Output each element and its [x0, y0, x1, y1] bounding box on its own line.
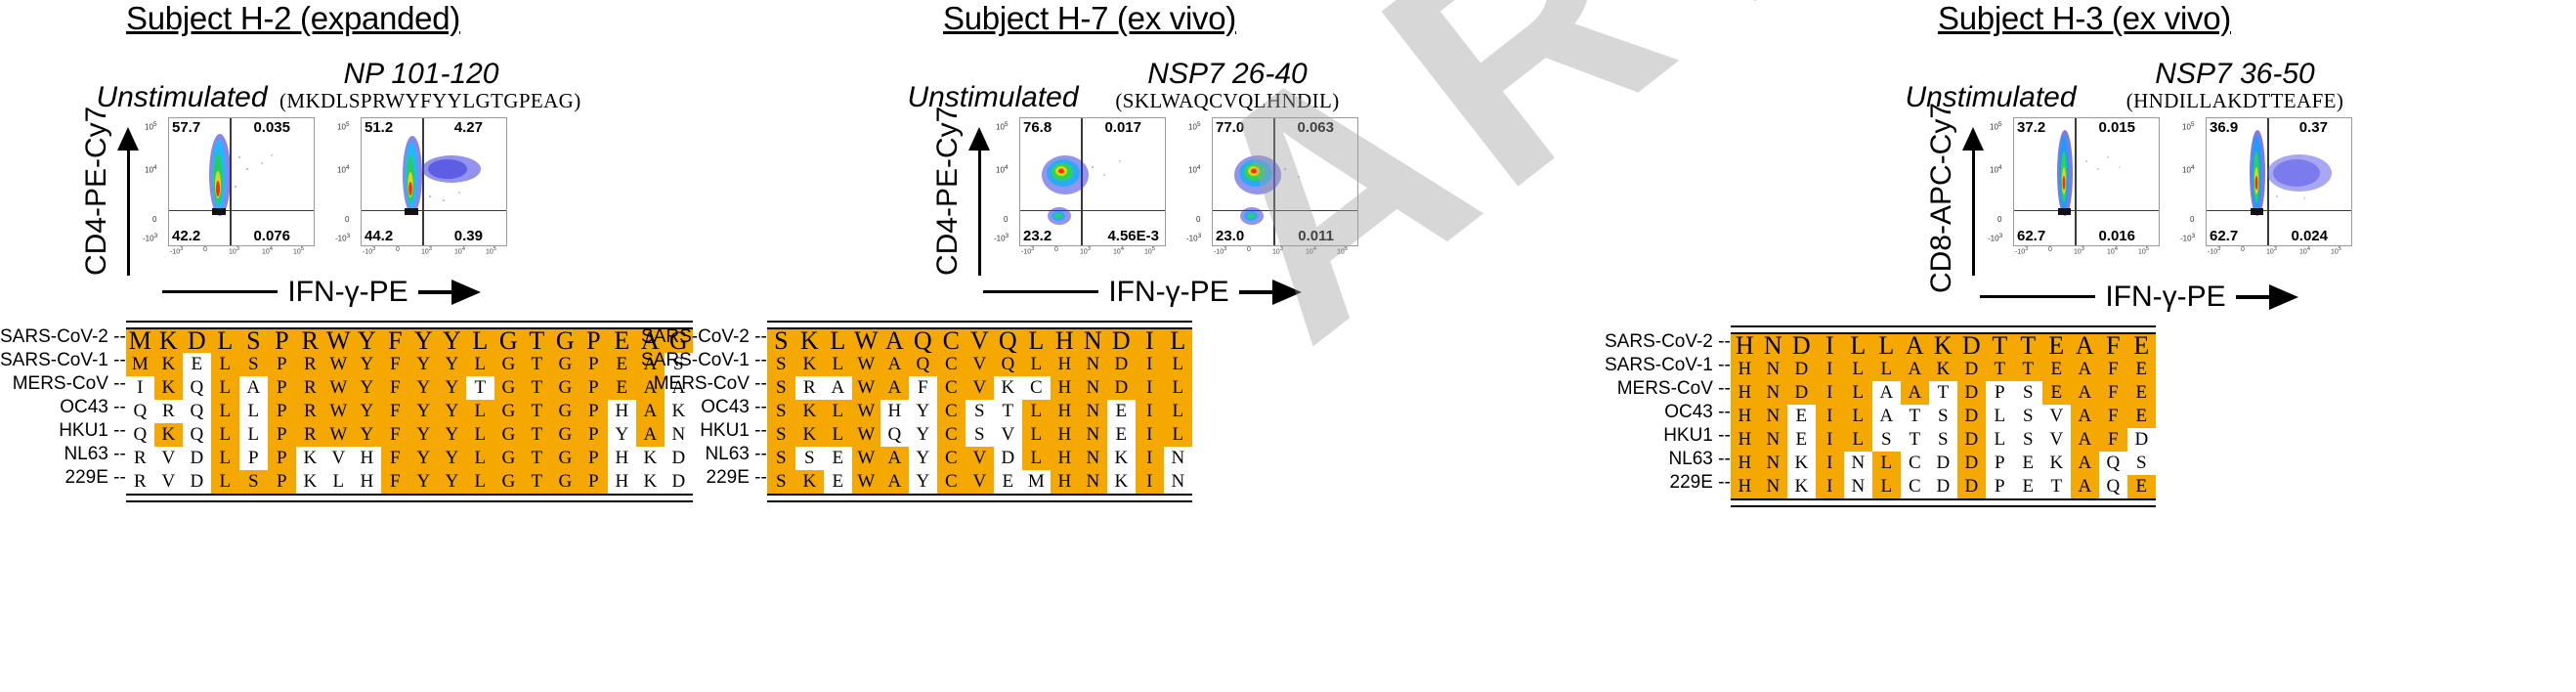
- residue-cell: L: [1164, 376, 1192, 400]
- residue-cell: S: [767, 400, 795, 423]
- strain-label: SARS-CoV-2 --: [1605, 330, 1731, 354]
- residue-cell: D: [1929, 475, 1957, 498]
- residue-cell: V: [966, 447, 994, 470]
- residue-cell: D: [183, 329, 211, 353]
- residue-cell: S: [239, 329, 268, 353]
- residue-cell: V: [966, 376, 994, 400]
- alignment-row: HNKINLCDDPETAQE: [1731, 475, 2156, 498]
- residue-cell: G: [551, 423, 580, 447]
- residue-cell: S: [2014, 428, 2042, 452]
- residue-cell: A: [2071, 475, 2099, 498]
- residue-cell: D: [1107, 329, 1136, 353]
- residue-cell: N: [1079, 423, 1107, 447]
- residue-cell: L: [824, 400, 852, 423]
- y-tick-marks: 105 104 0 -103: [335, 117, 361, 244]
- residue-cell: T: [523, 400, 551, 423]
- residue-cell: L: [1844, 334, 1872, 358]
- residue-cell: F: [909, 376, 937, 400]
- residue-cell: N: [1844, 452, 1872, 475]
- residue-cell: T: [1986, 334, 2014, 358]
- residue-cell: F: [2099, 334, 2127, 358]
- residue-cell: I: [1816, 475, 1844, 498]
- residue-cell: L: [466, 400, 494, 423]
- residue-cell: Y: [438, 447, 466, 470]
- residue-cell: N: [1164, 470, 1192, 494]
- residue-cell: R: [296, 423, 324, 447]
- x-tick-marks: -103 0 103 104 105: [361, 246, 505, 262]
- residue-cell: Y: [438, 423, 466, 447]
- residue-cell: E: [2127, 381, 2156, 405]
- residue-cell: V: [966, 353, 994, 376]
- residue-cell: T: [523, 329, 551, 353]
- residue-cell: A: [1872, 381, 1901, 405]
- residue-cell: P: [1986, 452, 2014, 475]
- residue-cell: W: [852, 353, 880, 376]
- residue-cell: R: [296, 353, 324, 376]
- residue-cell: L: [211, 423, 239, 447]
- quadrant-value-ll: 62.7: [2210, 228, 2238, 244]
- residue-cell: D: [1957, 405, 1986, 428]
- residue-cell: S: [767, 376, 795, 400]
- residue-cell: E: [2042, 358, 2071, 381]
- condition-name: Unstimulated: [84, 82, 279, 113]
- residue-cell: E: [2127, 358, 2156, 381]
- x-axis-arrow-icon: [418, 280, 481, 305]
- quadrant-value-lr: 0.011: [1298, 228, 1334, 244]
- strain-label: OC43 --: [1605, 401, 1731, 424]
- residue-cell: K: [795, 400, 824, 423]
- residue-cell: Q: [909, 329, 937, 353]
- residue-cell: K: [795, 470, 824, 494]
- residue-cell: E: [2127, 405, 2156, 428]
- residue-cell: G: [551, 329, 580, 353]
- condition-header-peptide: NP 101-120 (MKDLSPRWYFYYLGTGPEAG): [279, 59, 563, 113]
- residue-cell: D: [1787, 334, 1816, 358]
- flow-plot-unstimulated[interactable]: 105 104 0 -103: [143, 117, 314, 262]
- residue-cell: L: [1022, 447, 1051, 470]
- y-tick-marks: 105 104 0 -103: [1186, 117, 1212, 244]
- residue-cell: E: [824, 470, 852, 494]
- residue-cell: Y: [409, 353, 438, 376]
- flow-cytometry-block: CD4-PE-Cy7 105 104 0 -103: [635, 117, 1544, 274]
- residue-cell: W: [852, 400, 880, 423]
- y-tick-marks: 105 104 0 -103: [2180, 117, 2206, 244]
- flow-plot-peptide[interactable]: 105 104 0 -103: [335, 117, 506, 262]
- alignment-row-labels: SARS-CoV-2 -- SARS-CoV-1 -- MERS-CoV -- …: [0, 321, 126, 490]
- strain-label: NL63 --: [0, 443, 126, 466]
- residue-cell: N: [1759, 358, 1787, 381]
- residue-cell: K: [154, 329, 183, 353]
- residue-cell: V: [2042, 405, 2071, 428]
- residue-cell: W: [324, 423, 353, 447]
- alignment-grid: HNDILLAKDTTEAFEHNDILLAKDTTEAFEHNDILAATDP…: [1731, 325, 2156, 507]
- residue-cell: W: [852, 423, 880, 447]
- residue-cell: P: [1986, 381, 2014, 405]
- residue-cell: S: [1872, 428, 1901, 452]
- y-axis-arrow-icon: [1960, 127, 1986, 274]
- figure-root: Subject H-2 (expanded) Unstimulated NP 1…: [0, 0, 2576, 692]
- residue-cell: Q: [880, 423, 909, 447]
- residue-cell: H: [1731, 381, 1759, 405]
- alignment-row: SKLWAQCVQLHNDIL: [767, 353, 1192, 376]
- residue-cell: I: [1816, 381, 1844, 405]
- residue-cell: L: [1844, 405, 1872, 428]
- residue-cell: G: [494, 376, 523, 400]
- alignment-row: SKEWAYCVEMHNKIN: [767, 470, 1192, 494]
- residue-cell: T: [1901, 428, 1929, 452]
- strain-label: OC43 --: [0, 396, 126, 419]
- strain-label: 229E --: [1605, 471, 1731, 495]
- residue-cell: K: [795, 423, 824, 447]
- residue-cell: L: [1164, 329, 1192, 353]
- residue-cell: D: [1957, 358, 1986, 381]
- quadrant-value-ul: 36.9: [2210, 119, 2238, 136]
- residue-cell: S: [1929, 405, 1957, 428]
- residue-cell: A: [880, 353, 909, 376]
- residue-cell: L: [1844, 381, 1872, 405]
- residue-cell: K: [795, 329, 824, 353]
- residue-cell: H: [353, 447, 381, 470]
- condition-name: Unstimulated: [890, 82, 1095, 113]
- panel-title-row: Subject H-7 (ex vivo): [635, 0, 1544, 43]
- flow-plots: 105 104 0 -103: [1988, 117, 2351, 262]
- residue-cell: L: [1022, 400, 1051, 423]
- plot-canvas: 36.9 0.37 62.7 0.024: [2206, 117, 2352, 246]
- residue-cell: Y: [909, 470, 937, 494]
- residue-cell: A: [880, 447, 909, 470]
- quadrant-value-ul: 77.0: [1216, 119, 1244, 136]
- residue-cell: P: [268, 376, 296, 400]
- flow-plot-unstimulated[interactable]: 105 104 0 -103: [1988, 117, 2159, 262]
- residue-cell: F: [381, 447, 409, 470]
- residue-cell: N: [1079, 400, 1107, 423]
- flow-plots: 105 104 0 -103: [994, 117, 1357, 262]
- strain-label: SARS-CoV-2 --: [0, 325, 126, 349]
- residue-cell: H: [1731, 405, 1759, 428]
- residue-cell: H: [1731, 428, 1759, 452]
- residue-cell: K: [154, 353, 183, 376]
- residue-cell: Y: [353, 353, 381, 376]
- residue-cell: T: [1929, 381, 1957, 405]
- x-axis-row: IFN-γ-PE: [1593, 281, 2576, 314]
- residue-cell: S: [767, 447, 795, 470]
- residue-cell: A: [1901, 358, 1929, 381]
- residue-cell: T: [523, 353, 551, 376]
- residue-cell: P: [1986, 475, 2014, 498]
- residue-cell: Y: [909, 423, 937, 447]
- alignment-table: SARS-CoV-2 -- SARS-CoV-1 -- MERS-CoV -- …: [635, 321, 1544, 502]
- residue-cell: L: [1022, 423, 1051, 447]
- residue-cell: V: [2042, 428, 2071, 452]
- residue-cell: D: [1957, 428, 1986, 452]
- residue-cell: L: [1844, 358, 1872, 381]
- residue-cell: E: [2014, 452, 2042, 475]
- residue-cell: H: [880, 400, 909, 423]
- condition-header-unstimulated: Unstimulated: [1878, 49, 2103, 113]
- residue-cell: G: [494, 353, 523, 376]
- residue-cell: L: [1164, 400, 1192, 423]
- alignment-table: SARS-CoV-2 -- SARS-CoV-1 -- MERS-CoV -- …: [0, 321, 586, 502]
- residue-cell: E: [183, 353, 211, 376]
- residue-cell: K: [1929, 334, 1957, 358]
- rule-bottom: [767, 494, 1192, 502]
- page-title: Subject H-3 (ex vivo): [1938, 0, 2231, 37]
- residue-cell: F: [2099, 405, 2127, 428]
- residue-cell: H: [1051, 470, 1079, 494]
- quadrant-value-ur: 0.035: [253, 119, 290, 136]
- residue-cell: Y: [409, 470, 438, 494]
- condition-header-peptide: NSP7 26-40 (SKLWAQCVQLHNDIL): [1095, 59, 1359, 113]
- residue-cell: D: [183, 470, 211, 494]
- residue-cell: L: [466, 353, 494, 376]
- condition-header-peptide: NSP7 36-50 (HNDILLAKDTTEAFE): [2103, 59, 2367, 113]
- residue-cell: R: [795, 376, 824, 400]
- x-axis-arrow-icon: [2236, 284, 2298, 310]
- quadrant-value-ll: 62.7: [2017, 228, 2045, 244]
- residue-cell: K: [795, 353, 824, 376]
- residue-cell: T: [523, 447, 551, 470]
- residue-cell: A: [1901, 381, 1929, 405]
- y-tick-marks: 105 104 0 -103: [994, 117, 1019, 244]
- condition-header-row: Unstimulated NP 101-120 (MKDLSPRWYFYYLGT…: [0, 49, 586, 113]
- residue-cell: S: [966, 423, 994, 447]
- residue-cell: S: [767, 329, 795, 353]
- residue-cell: H: [1051, 329, 1079, 353]
- residue-cell: D: [1957, 334, 1986, 358]
- residue-cell: F: [381, 423, 409, 447]
- x-axis-label: IFN-γ-PE: [287, 276, 408, 309]
- strain-label: 229E --: [641, 466, 767, 490]
- residue-cell: N: [1759, 475, 1787, 498]
- alignment-table: SARS-CoV-2 -- SARS-CoV-1 -- MERS-CoV -- …: [1593, 325, 2576, 507]
- residue-cell: V: [154, 447, 183, 470]
- residue-cell: F: [2099, 381, 2127, 405]
- residue-cell: R: [296, 329, 324, 353]
- residue-cell: N: [1079, 353, 1107, 376]
- residue-cell: A: [1901, 334, 1929, 358]
- residue-cell: Q: [2099, 452, 2127, 475]
- alignment-row: SRAWAFCVKCHNDIL: [767, 376, 1192, 400]
- plot-canvas: 77.0 0.063 23.0 0.011: [1212, 117, 1358, 246]
- residue-cell: A: [2071, 358, 2099, 381]
- residue-cell: E: [2014, 475, 2042, 498]
- residue-cell: E: [994, 470, 1022, 494]
- residue-cell: H: [1731, 452, 1759, 475]
- peptide-sequence: (SKLWAQCVQLHNDIL): [1095, 89, 1359, 112]
- residue-cell: R: [296, 376, 324, 400]
- residue-cell: A: [880, 329, 909, 353]
- residue-cell: T: [1986, 358, 2014, 381]
- residue-cell: K: [1787, 475, 1816, 498]
- residue-cell: A: [239, 376, 268, 400]
- quadrant-value-lr: 0.016: [2098, 228, 2135, 244]
- residue-cell: N: [1079, 376, 1107, 400]
- residue-cell: D: [1107, 353, 1136, 376]
- flow-plot-unstimulated[interactable]: 105 104 0 -103: [994, 117, 1165, 262]
- strain-label: HKU1 --: [0, 419, 126, 443]
- residue-cell: Y: [353, 329, 381, 353]
- residue-cell: L: [211, 376, 239, 400]
- residue-cell: L: [824, 353, 852, 376]
- residue-cell: L: [211, 353, 239, 376]
- residue-cell: F: [381, 376, 409, 400]
- peptide-name: NSP7 26-40: [1095, 59, 1359, 90]
- strain-label: HKU1 --: [1605, 424, 1731, 448]
- residue-cell: H: [1051, 376, 1079, 400]
- residue-cell: A: [880, 470, 909, 494]
- residue-cell: L: [1844, 428, 1872, 452]
- residue-cell: K: [1929, 358, 1957, 381]
- peptide-sequence: (HNDILLAKDTTEAFE): [2103, 89, 2367, 112]
- residue-cell: C: [937, 423, 966, 447]
- residue-cell: T: [994, 400, 1022, 423]
- x-tick-marks: -103 0 103 104 105: [1019, 246, 1164, 262]
- residue-cell: L: [466, 329, 494, 353]
- flow-plot-peptide[interactable]: 105 104 0 -103: [1186, 117, 1357, 262]
- residue-cell: Q: [126, 423, 154, 447]
- residue-cell: S: [966, 400, 994, 423]
- residue-cell: L: [466, 423, 494, 447]
- residue-cell: H: [1731, 358, 1759, 381]
- residue-cell: S: [795, 447, 824, 470]
- x-axis-label: IFN-γ-PE: [2105, 281, 2225, 314]
- quadrant-value-ur: 4.27: [454, 119, 483, 136]
- alignment-row: HNKINLCDDPEKAQS: [1731, 452, 2156, 475]
- residue-cell: M: [126, 353, 154, 376]
- residue-cell: T: [523, 423, 551, 447]
- residue-cell: K: [296, 470, 324, 494]
- quadrant-value-lr: 0.024: [2291, 228, 2328, 244]
- peptide-sequence: (MKDLSPRWYFYYLGTGPEAG): [279, 89, 563, 112]
- quadrant-value-ul: 57.7: [172, 119, 200, 136]
- residue-cell: M: [126, 329, 154, 353]
- residue-cell: A: [824, 376, 852, 400]
- x-axis-arrow-icon: [1239, 280, 1302, 305]
- strain-label: NL63 --: [1605, 448, 1731, 471]
- y-tick-marks: 105 104 0 -103: [143, 117, 168, 244]
- residue-cell: L: [824, 423, 852, 447]
- residue-cell: S: [767, 353, 795, 376]
- residue-cell: S: [767, 423, 795, 447]
- residue-cell: D: [1787, 381, 1816, 405]
- residue-cell: Y: [909, 400, 937, 423]
- residue-cell: D: [183, 447, 211, 470]
- residue-cell: W: [852, 329, 880, 353]
- residue-cell: N: [1759, 334, 1787, 358]
- residue-cell: P: [268, 329, 296, 353]
- flow-plot-peptide[interactable]: 105 104 0 -103: [2180, 117, 2351, 262]
- condition-name: Unstimulated: [1878, 82, 2103, 113]
- residue-cell: K: [994, 376, 1022, 400]
- residue-cell: I: [1136, 400, 1164, 423]
- residue-cell: S: [2014, 381, 2042, 405]
- residue-cell: F: [381, 353, 409, 376]
- residue-cell: H: [1731, 475, 1759, 498]
- residue-cell: L: [1872, 452, 1901, 475]
- residue-cell: A: [2071, 452, 2099, 475]
- peptide-name: NP 101-120: [279, 59, 563, 90]
- residue-cell: N: [1164, 447, 1192, 470]
- residue-cell: G: [494, 447, 523, 470]
- residue-cell: E: [824, 447, 852, 470]
- x-tick-marks: -103 0 103 104 105: [2206, 246, 2350, 262]
- x-axis-line: [983, 290, 1098, 293]
- alignment-row: HNEILATSDLSVAFE: [1731, 405, 2156, 428]
- panel-gap-2: [1544, 0, 1593, 692]
- residue-cell: W: [324, 376, 353, 400]
- x-axis-row: IFN-γ-PE: [635, 276, 1544, 309]
- residue-cell: G: [494, 423, 523, 447]
- residue-cell: H: [1051, 447, 1079, 470]
- condition-header-row: Unstimulated NSP7 26-40 (SKLWAQCVQLHNDIL…: [635, 49, 1544, 113]
- panel-title-row: Subject H-3 (ex vivo): [1593, 0, 2576, 43]
- panel-title-row: Subject H-2 (expanded): [0, 0, 586, 43]
- residue-cell: G: [551, 447, 580, 470]
- residue-cell: Y: [353, 400, 381, 423]
- residue-cell: A: [2071, 334, 2099, 358]
- residue-cell: Y: [353, 423, 381, 447]
- residue-cell: E: [2127, 334, 2156, 358]
- strain-label: SARS-CoV-2 --: [641, 325, 767, 349]
- plot-canvas: 57.7 0.035 42.2 0.076: [168, 117, 315, 246]
- alignment-row-labels: SARS-CoV-2 -- SARS-CoV-1 -- MERS-CoV -- …: [641, 321, 767, 490]
- strain-label: SARS-CoV-1 --: [641, 349, 767, 372]
- residue-cell: Y: [909, 447, 937, 470]
- residue-cell: S: [2014, 405, 2042, 428]
- residue-cell: Y: [409, 447, 438, 470]
- residue-cell: K: [154, 423, 183, 447]
- x-axis-line: [162, 290, 278, 293]
- residue-cell: P: [268, 353, 296, 376]
- alignment-row: HNDILAATDPSEAFE: [1731, 381, 2156, 405]
- residue-cell: C: [937, 353, 966, 376]
- y-axis-label: CD4-PE-Cy7: [931, 117, 965, 264]
- residue-cell: N: [1079, 447, 1107, 470]
- x-axis-label: IFN-γ-PE: [1108, 276, 1228, 309]
- residue-cell: Y: [438, 376, 466, 400]
- alignment-row: SKLWQYCSVLHNEIL: [767, 423, 1192, 447]
- residue-cell: F: [2099, 428, 2127, 452]
- residue-cell: D: [994, 447, 1022, 470]
- residue-cell: Y: [409, 400, 438, 423]
- plot-canvas: 51.2 4.27 44.2 0.39: [361, 117, 507, 246]
- plot-canvas: 76.8 0.017 23.2 4.56E-3: [1019, 117, 1166, 246]
- residue-cell: L: [211, 470, 239, 494]
- residue-cell: G: [494, 329, 523, 353]
- residue-cell: F: [381, 329, 409, 353]
- quadrant-value-ur: 0.015: [2098, 119, 2135, 136]
- residue-cell: E: [2042, 334, 2071, 358]
- residue-cell: C: [1901, 452, 1929, 475]
- condition-header-unstimulated: Unstimulated: [84, 49, 279, 113]
- residue-cell: E: [1787, 405, 1816, 428]
- residue-cell: G: [551, 353, 580, 376]
- residue-cell: T: [1901, 405, 1929, 428]
- residue-cell: N: [1759, 405, 1787, 428]
- residue-cell: K: [1107, 470, 1136, 494]
- residue-cell: L: [1164, 353, 1192, 376]
- y-tick-marks: 105 104 0 -103: [1988, 117, 2013, 244]
- residue-cell: D: [1957, 381, 1986, 405]
- residue-cell: A: [2071, 405, 2099, 428]
- residue-cell: K: [154, 376, 183, 400]
- strain-label: 229E --: [0, 466, 126, 490]
- strain-label: OC43 --: [641, 396, 767, 419]
- residue-cell: P: [268, 423, 296, 447]
- residue-cell: H: [1731, 334, 1759, 358]
- page-title: Subject H-7 (ex vivo): [943, 0, 1236, 37]
- residue-cell: E: [1787, 428, 1816, 452]
